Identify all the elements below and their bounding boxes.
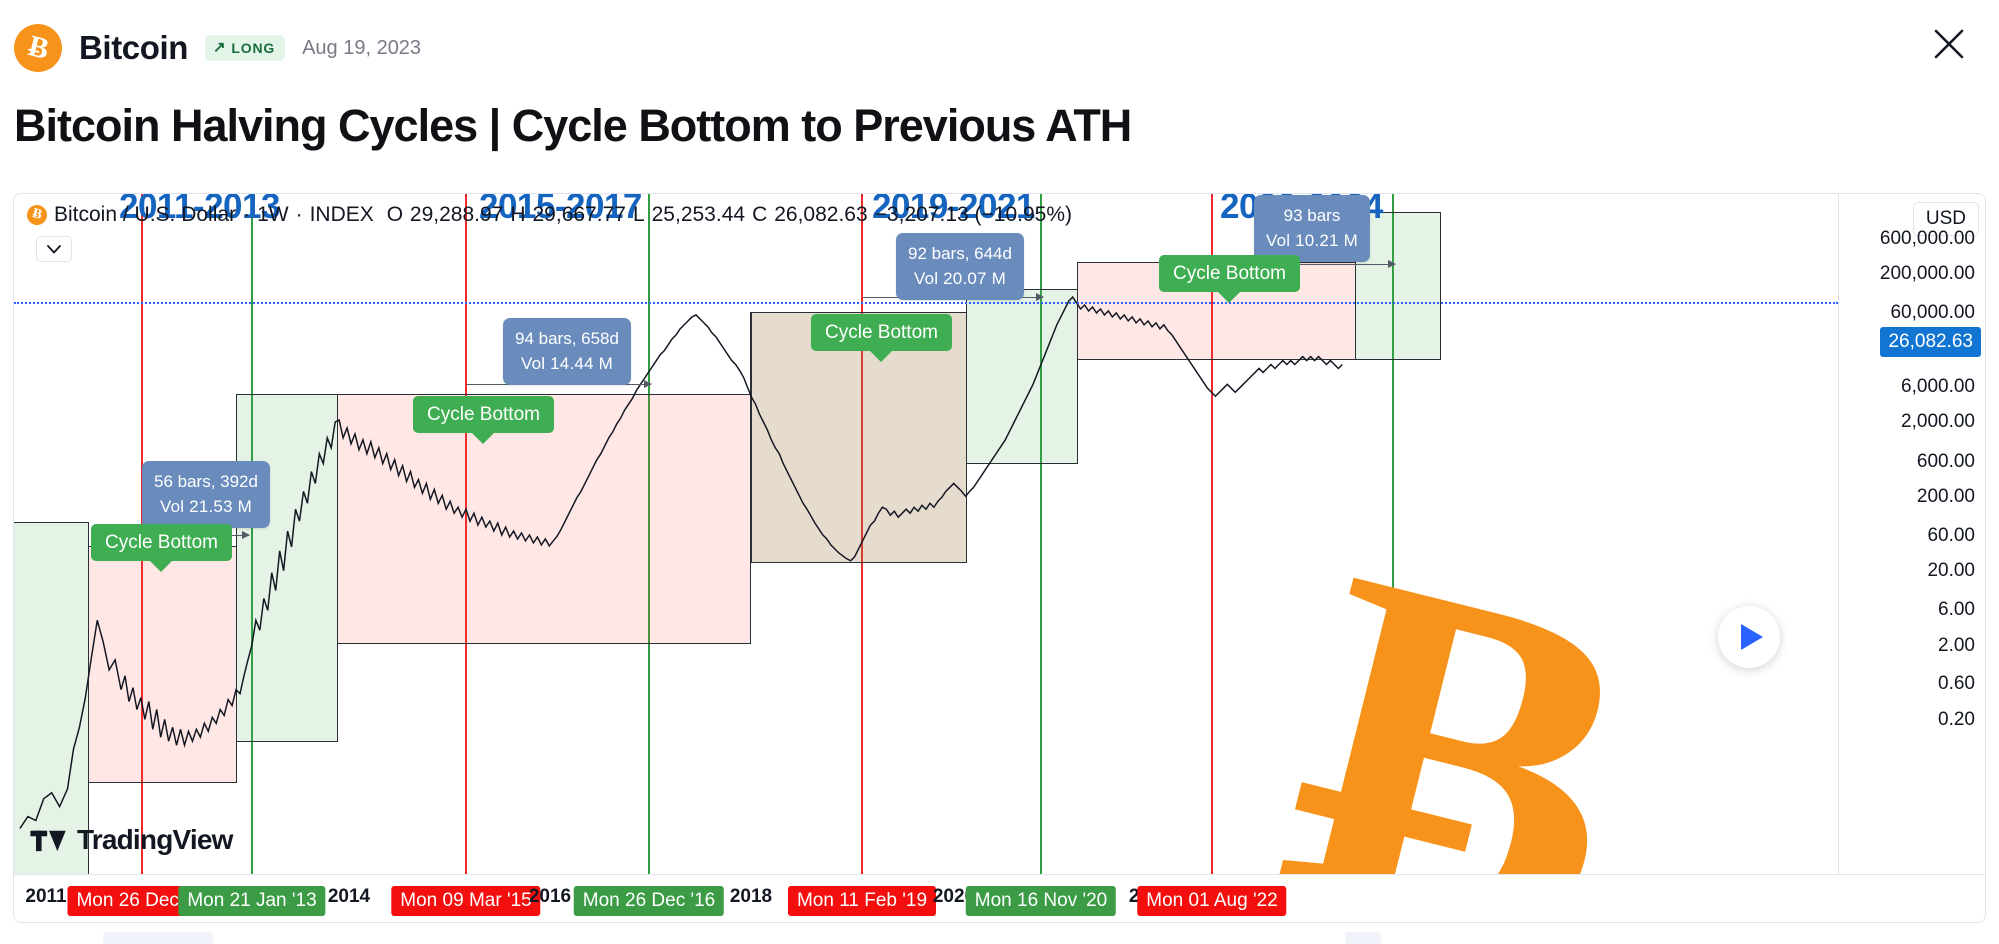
measure-bars-3: 92 bars, 644d — [908, 242, 1012, 267]
legend-high-value: 29,667.77 — [533, 203, 626, 227]
price-tick-7: 200.00 — [1917, 486, 1975, 508]
chart-pane[interactable]: 2011-2013 2015-2017 2019-2021 2022-2024 … — [14, 194, 1838, 874]
legend-high-label: H — [510, 203, 525, 227]
current-price-line — [14, 302, 1838, 304]
current-price-label: 26,082.63 — [1880, 327, 1981, 357]
play-icon — [1741, 624, 1763, 650]
chart-container[interactable]: 2011-2013 2015-2017 2019-2021 2022-2024 … — [13, 193, 1986, 923]
time-tick-4: Mon 09 Mar '15 — [391, 886, 540, 916]
measure-vol-2: Vol 14.44 M — [515, 352, 619, 377]
legend-interval[interactable]: 1W — [257, 203, 289, 227]
cycle-bottom-callout-4: Cycle Bottom — [1159, 255, 1300, 292]
measure-vol-1: Vol 21.53 M — [154, 495, 258, 520]
bitcoin-logo-icon: Ƀ — [14, 24, 62, 72]
tradingview-brand: TradingView — [77, 824, 233, 856]
strip-chip-right — [1345, 932, 1381, 944]
measure-vol-3: Vol 20.07 M — [908, 267, 1012, 292]
bottom-strip — [0, 924, 1999, 944]
tradingview-watermark: TradingView — [30, 824, 233, 856]
legend-collapse-button[interactable] — [36, 236, 72, 262]
legend-change: −3,207.13 (−10.95%) — [875, 203, 1072, 227]
legend-low-value: 25,253.44 — [652, 203, 745, 227]
symbol-title: Bitcoin — [79, 29, 188, 67]
time-tick-6: Mon 26 Dec '16 — [574, 886, 724, 916]
price-tick-10: 6.00 — [1938, 599, 1975, 621]
time-tick-8: Mon 11 Feb '19 — [788, 886, 936, 916]
cycle-bottom-callout-2: Cycle Bottom — [413, 396, 554, 433]
measure-bars-1: 56 bars, 392d — [154, 470, 258, 495]
idea-header: Ƀ Bitcoin ↗ LONG Aug 19, 2023 Bitcoin Ha… — [0, 0, 1999, 185]
price-tick-13: 0.20 — [1938, 709, 1975, 731]
price-tick-0: 600,000.00 — [1880, 228, 1975, 250]
symbol-row: Ƀ Bitcoin ↗ LONG Aug 19, 2023 — [14, 24, 421, 72]
measure-tooltip-2: 94 bars, 658d Vol 14.44 M — [503, 318, 631, 385]
strip-chip-left — [103, 932, 213, 944]
price-tick-2: 60,000.00 — [1890, 302, 1975, 324]
time-tick-7: 2018 — [730, 886, 772, 908]
status-badge: ↗ LONG — [205, 35, 285, 61]
play-button[interactable] — [1718, 606, 1780, 668]
cycle-bottom-callout-1: Cycle Bottom — [91, 524, 232, 561]
measure-tooltip-3: 92 bars, 644d Vol 20.07 M — [896, 233, 1024, 300]
legend-low-label: L — [633, 203, 645, 227]
price-tick-6: 600.00 — [1917, 451, 1975, 473]
idea-date: Aug 19, 2023 — [302, 37, 421, 60]
measure-vol-4: Vol 10.21 M — [1266, 229, 1358, 254]
time-tick-0: 2011 — [25, 886, 66, 908]
measure-tooltip-4: 93 bars Vol 10.21 M — [1254, 195, 1370, 262]
legend-bitcoin-icon: Ƀ — [25, 203, 49, 227]
close-icon — [1932, 27, 1966, 61]
measure-bars-4: 93 bars — [1266, 204, 1358, 229]
price-axis[interactable]: USD 600,000.00 200,000.00 60,000.00 20,0… — [1838, 194, 1985, 874]
idea-page: Ƀ Bitcoin ↗ LONG Aug 19, 2023 Bitcoin Ha… — [0, 0, 1999, 944]
page-title: Bitcoin Halving Cycles | Cycle Bottom to… — [14, 100, 1131, 152]
chevron-down-icon — [47, 245, 61, 254]
price-tick-12: 0.60 — [1938, 673, 1975, 695]
price-tick-9: 20.00 — [1927, 560, 1975, 582]
price-tick-11: 2.00 — [1938, 635, 1975, 657]
time-tick-2: Mon 21 Jan '13 — [178, 886, 325, 916]
legend-close-label: C — [752, 203, 767, 227]
chart-legend[interactable]: Ƀ Bitcoin / U.S. Dollar · 1W · INDEX O 2… — [27, 203, 1072, 227]
time-axis[interactable]: 2011 Mon 26 Dec '11 Mon 21 Jan '13 2014 … — [14, 874, 1985, 922]
legend-symbol[interactable]: Bitcoin / U.S. Dollar — [54, 203, 236, 227]
status-badge-label: LONG — [231, 40, 275, 56]
trend-up-arrow-icon: ↗ — [213, 40, 226, 55]
measure-bars-2: 94 bars, 658d — [515, 327, 619, 352]
legend-exchange: INDEX — [310, 203, 374, 227]
time-tick-3: 2014 — [328, 886, 370, 908]
cycle-bottom-callout-3: Cycle Bottom — [811, 314, 952, 351]
measure-tooltip-1: 56 bars, 392d Vol 21.53 M — [142, 461, 270, 528]
legend-open-value: 29,288.97 — [410, 203, 503, 227]
legend-open-label: O — [387, 203, 403, 227]
close-button[interactable] — [1927, 22, 1971, 66]
price-tick-8: 60.00 — [1927, 525, 1975, 547]
tradingview-logo-icon — [30, 827, 68, 853]
price-tick-1: 200,000.00 — [1880, 263, 1975, 285]
legend-sep-2: · — [296, 203, 303, 227]
bitcoin-logo-glyph: Ƀ — [9, 19, 67, 77]
price-tick-5: 2,000.00 — [1901, 411, 1975, 433]
price-tick-4: 6,000.00 — [1901, 376, 1975, 398]
legend-sep-1: · — [243, 203, 250, 227]
time-tick-10: Mon 16 Nov '20 — [966, 886, 1116, 916]
annotation-layer: 2011-2013 2015-2017 2019-2021 2022-2024 … — [14, 194, 1838, 874]
legend-close-value: 26,082.63 — [774, 203, 867, 227]
time-tick-5: 2016 — [529, 886, 571, 908]
time-tick-12: Mon 01 Aug '22 — [1137, 886, 1286, 916]
